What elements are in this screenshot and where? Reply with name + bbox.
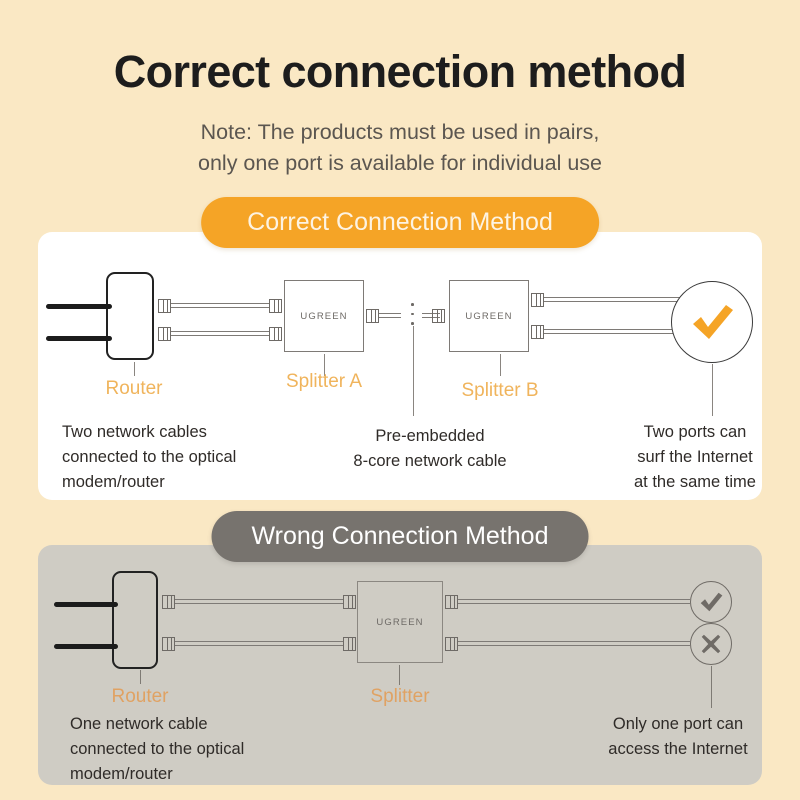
cross-icon-circle-wrong: [690, 623, 732, 665]
rj45-connector: [531, 293, 544, 307]
rj45-connector: [445, 637, 458, 651]
rj45-connector: [531, 325, 544, 339]
splitter-a-device: UGREEN: [284, 280, 364, 352]
leader-line: [413, 326, 414, 416]
router-prong-top-correct: [46, 304, 112, 309]
rj45-connector: [445, 595, 458, 609]
leader-line: [134, 362, 135, 376]
leader-line: [399, 665, 400, 685]
router-prong-top-wrong: [54, 602, 118, 607]
splitter-a-label: Splitter A: [264, 371, 384, 393]
router-device-correct: [106, 272, 154, 360]
splitter-b-label: Splitter B: [440, 380, 560, 402]
check-icon: [698, 590, 724, 614]
splitter-b-device: UGREEN: [449, 280, 529, 352]
splitter-brand-wrong: UGREEN: [376, 617, 423, 628]
network-cable: [458, 599, 690, 604]
cable-caption-correct: Pre-embedded 8-core network cable: [330, 424, 530, 474]
check-icon: [688, 300, 736, 344]
router-label-wrong: Router: [90, 686, 190, 708]
page-title: Correct connection method: [0, 46, 800, 98]
cable-break-marker: [411, 303, 414, 325]
rj45-connector: [432, 309, 445, 323]
rj45-connector: [343, 637, 356, 651]
router-device-wrong: [112, 571, 158, 669]
leader-line: [712, 364, 713, 416]
splitter-device-wrong: UGREEN: [357, 581, 443, 663]
router-label-correct: Router: [84, 378, 184, 400]
wrong-method-banner: Wrong Connection Method: [212, 511, 589, 562]
rj45-connector: [269, 327, 282, 341]
leader-line: [140, 670, 141, 684]
network-cable: [171, 303, 269, 308]
infographic-page: Correct connection method Note: The prod…: [0, 0, 800, 800]
rj45-connector: [366, 309, 379, 323]
router-caption-wrong: One network cable connected to the optic…: [70, 712, 285, 787]
splitter-b-brand: UGREEN: [465, 311, 512, 322]
interconnect-cable: [379, 313, 401, 318]
check-icon-circle-wrong: [690, 581, 732, 623]
rj45-connector: [269, 299, 282, 313]
subtitle-line-1: Note: The products must be used in pairs…: [0, 117, 800, 148]
leader-line: [711, 666, 712, 708]
network-cable: [171, 331, 269, 336]
correct-method-banner: Correct Connection Method: [201, 197, 599, 248]
rj45-connector: [158, 299, 171, 313]
router-prong-bottom-wrong: [54, 644, 118, 649]
splitter-a-brand: UGREEN: [300, 311, 347, 322]
router-caption-correct: Two network cables connected to the opti…: [62, 420, 272, 495]
rj45-connector: [162, 637, 175, 651]
network-cable: [544, 297, 680, 302]
network-cable: [458, 641, 690, 646]
leader-line: [500, 354, 501, 376]
check-icon-circle-correct: [671, 281, 753, 363]
splitter-label-wrong: Splitter: [344, 686, 456, 708]
network-cable: [175, 641, 343, 646]
subtitle-line-2: only one port is available for individua…: [0, 148, 800, 179]
rj45-connector: [158, 327, 171, 341]
network-cable: [544, 329, 680, 334]
ports-caption-correct: Two ports can surf the Internet at the s…: [605, 420, 785, 495]
rj45-connector: [162, 595, 175, 609]
rj45-connector: [343, 595, 356, 609]
router-prong-bottom-correct: [46, 336, 112, 341]
ports-caption-wrong: Only one port can access the Internet: [583, 712, 773, 762]
cross-icon: [699, 632, 723, 656]
network-cable: [175, 599, 343, 604]
page-subtitle: Note: The products must be used in pairs…: [0, 117, 800, 179]
